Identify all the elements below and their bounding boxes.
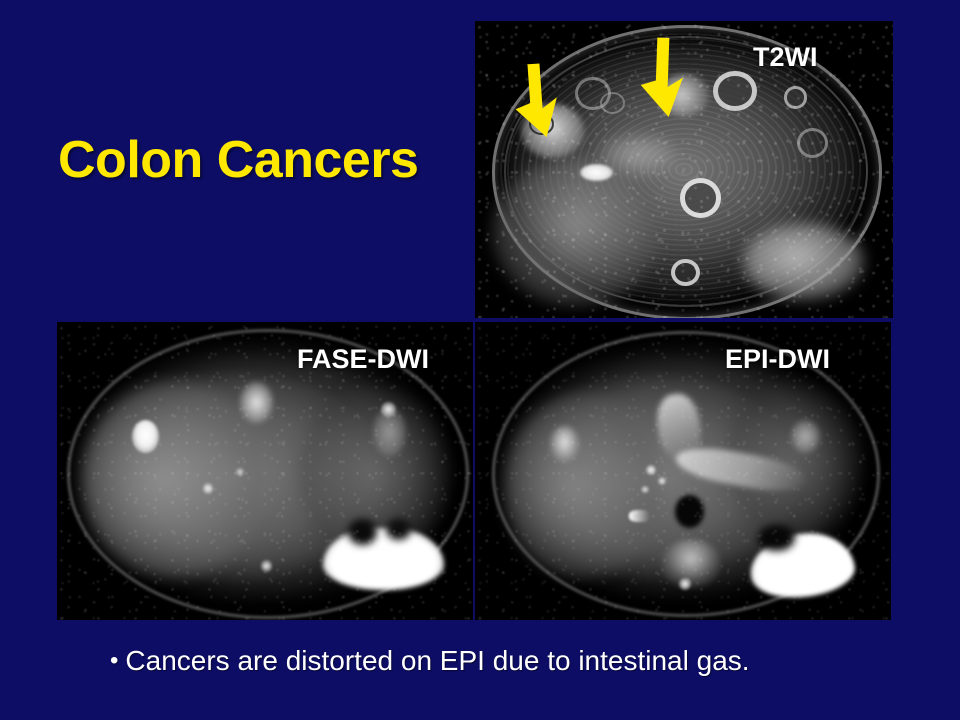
panel-label-t2wi: T2WI: [753, 42, 818, 73]
panel-label-fase-dwi: FASE-DWI: [297, 344, 429, 375]
caption-text: Cancers are distorted on EPI due to inte…: [125, 645, 749, 676]
image-panel-epi-dwi[interactable]: EPI-DWI: [475, 322, 891, 620]
page-title: Colon Cancers: [58, 133, 418, 188]
image-panel-fase-dwi[interactable]: FASE-DWI: [57, 322, 473, 620]
bullet-icon: •: [110, 647, 118, 674]
arrow-annotation-right: [638, 35, 700, 121]
slide-canvas: Colon Cancers: [0, 0, 960, 720]
caption-bullet-line: •Cancers are distorted on EPI due to int…: [110, 645, 750, 677]
arrow-annotation-left: [513, 59, 581, 141]
panel-label-epi-dwi: EPI-DWI: [725, 344, 830, 375]
image-panel-t2wi[interactable]: T2WI: [475, 21, 893, 318]
mri-image-t2wi: [475, 21, 893, 318]
